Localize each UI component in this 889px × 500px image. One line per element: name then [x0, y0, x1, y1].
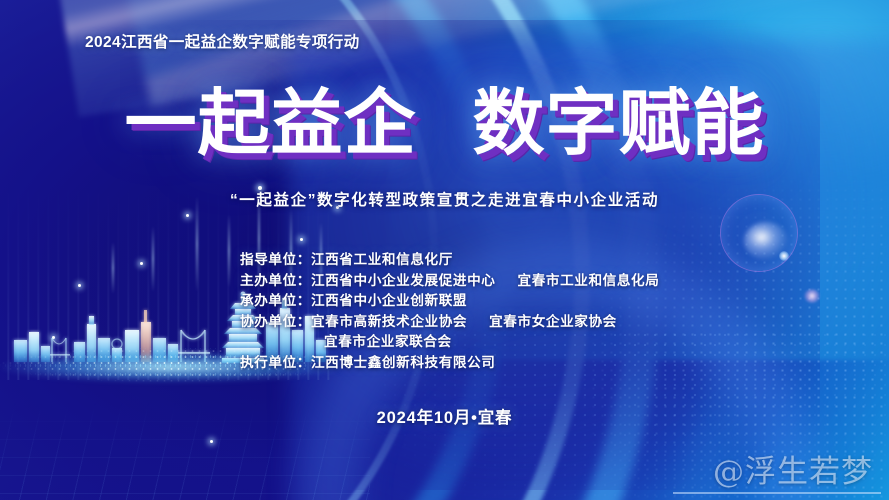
credit-label: 执行单位： — [240, 355, 311, 370]
credit-label: 承办单位： — [240, 293, 311, 308]
credits-block: 指导单位：江西省工业和信息化厅 主办单位：江西省中小企业发展促进中心宜春市工业和… — [240, 250, 800, 374]
credit-primary: 宜春市企业家联合会 — [324, 334, 452, 349]
credit-secondary: 宜春市工业和信息化局 — [518, 273, 660, 288]
page-title-left: 一起益企 — [124, 84, 416, 164]
credit-secondary: 宜春市女企业家协会 — [489, 314, 617, 329]
campaign-kicker: 2024江西省一起益企数字赋能专项行动 — [85, 30, 360, 52]
credit-row: 协办单位：宜春市高新技术企业协会宜春市女企业家协会 — [240, 312, 800, 333]
credit-row: 宜春市企业家联合会 — [240, 332, 800, 353]
credit-row: 指导单位：江西省工业和信息化厅 — [240, 250, 800, 271]
credit-label: 指导单位： — [240, 252, 311, 267]
credit-primary: 江西省中小企业创新联盟 — [311, 293, 467, 308]
page-title-right: 数字赋能 — [473, 84, 765, 164]
credit-row: 承办单位：江西省中小企业创新联盟 — [240, 291, 800, 312]
poster-canvas: 2024江西省一起益企数字赋能专项行动 一起益企数字赋能 “一起益企”数字化转型… — [0, 0, 889, 500]
credit-label: 协办单位： — [240, 314, 311, 329]
watermark-underline — [673, 492, 881, 494]
poster-content: 2024江西省一起益企数字赋能专项行动 一起益企数字赋能 “一起益企”数字化转型… — [0, 0, 889, 500]
credit-primary: 江西博士鑫创新科技有限公司 — [311, 355, 496, 370]
watermark-text: @浮生若梦 — [713, 452, 873, 492]
credit-row: 主办单位：江西省中小企业发展促进中心宜春市工业和信息化局 — [240, 271, 800, 292]
event-datetime-location: 2024年10月•宜春 — [0, 404, 889, 428]
credit-label: 主办单位： — [240, 273, 311, 288]
credit-row: 执行单位：江西博士鑫创新科技有限公司 — [240, 353, 800, 374]
page-subtitle: “一起益企”数字化转型政策宣贯之走进宜春中小企业活动 — [0, 188, 889, 210]
credit-primary: 江西省中小企业发展促进中心 — [311, 273, 496, 288]
credit-primary: 宜春市高新技术企业协会 — [311, 314, 467, 329]
credit-primary: 江西省工业和信息化厅 — [311, 252, 453, 267]
page-title: 一起益企数字赋能 — [0, 88, 889, 160]
